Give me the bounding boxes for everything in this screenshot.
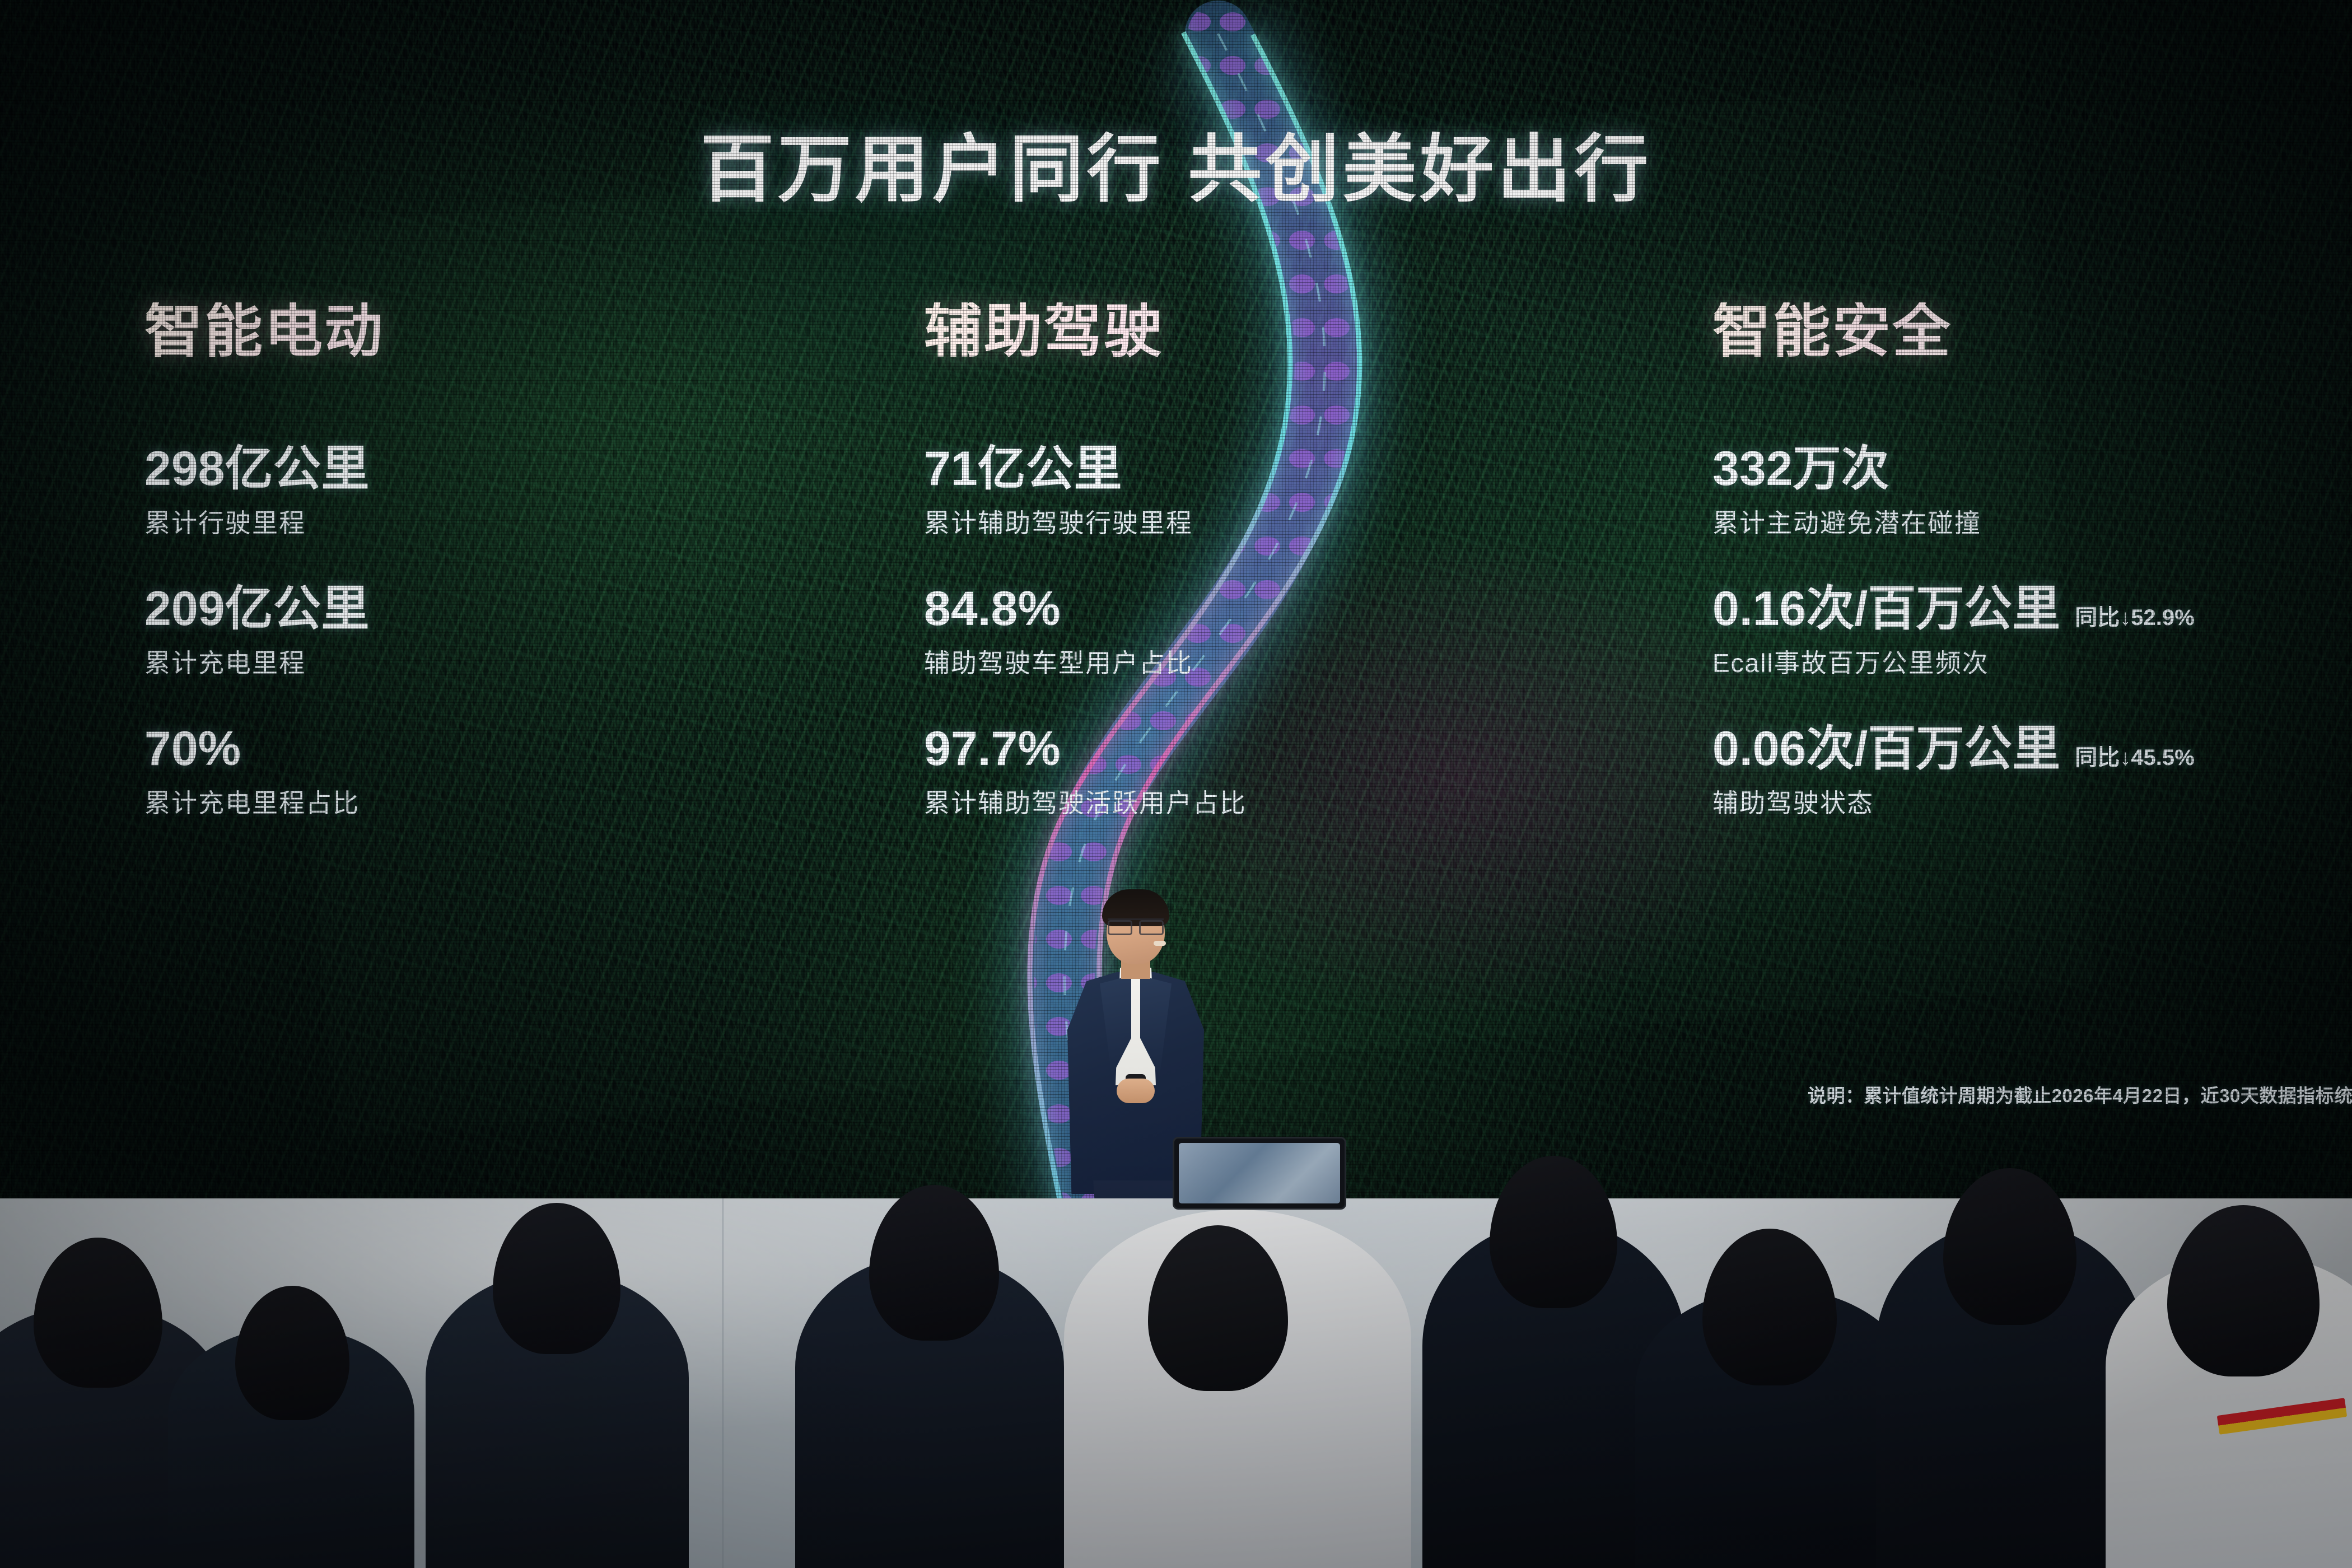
slide-footnote: 说明：累计值统计周期为截止2026年4月22日，近30天数据指标统计: [1808, 1081, 2352, 1108]
stat-value: 0.16次/百万公里: [1712, 584, 2060, 634]
column-header: 辅助驾驶: [924, 302, 1652, 361]
stat-delta: 同比↓52.9%: [2075, 599, 2194, 632]
stat-label: 辅助驾驶车型用户占比: [924, 643, 1652, 680]
stat-delta: 同比↓45.5%: [2075, 739, 2194, 772]
phone-screen: [1179, 1143, 1340, 1203]
audience-foreground: [0, 1154, 2352, 1568]
stat-label: 辅助驾驶状态: [1712, 783, 2352, 820]
column-header: 智能安全: [1712, 302, 2352, 361]
stat-value: 298亿公里: [144, 444, 370, 494]
stat-label: 累计辅助驾驶行驶里程: [924, 503, 1652, 540]
audience-head: [869, 1185, 999, 1341]
stat-label: 累计充电里程占比: [144, 783, 861, 820]
stat-value: 0.06次/百万公里: [1712, 724, 2060, 774]
stat-value: 97.7%: [924, 724, 1061, 774]
stat-block: 84.8% 辅助驾驶车型用户占比: [924, 584, 1652, 680]
stat-block: 71亿公里 累计辅助驾驶行驶里程: [924, 444, 1652, 540]
glasses-icon: [1108, 918, 1164, 931]
stat-label: 累计主动避免潜在碰撞: [1712, 503, 2352, 540]
stat-block: 209亿公里 累计充电里程: [144, 584, 861, 680]
stat-value: 70%: [144, 724, 241, 774]
audience-head: [34, 1238, 162, 1388]
stats-column-intelligent-ev: 智能电动 298亿公里 累计行驶里程 209亿公里 累计充电里: [144, 302, 861, 361]
stat-label: Ecall事故百万公里频次: [1712, 643, 2352, 680]
stat-value: 209亿公里: [144, 584, 370, 634]
audience-head: [2167, 1205, 2320, 1376]
stat-block: 0.16次/百万公里 同比↓52.9% Ecall事故百万公里频次: [1712, 584, 2352, 680]
stat-label: 累计辅助驾驶活跃用户占比: [924, 783, 1652, 820]
stat-block: 0.06次/百万公里 同比↓45.5% 辅助驾驶状态: [1712, 724, 2352, 820]
stat-value: 71亿公里: [924, 444, 1122, 494]
presenter-hands: [1117, 1079, 1155, 1103]
stat-block: 70% 累计充电里程占比: [144, 724, 861, 820]
audience-head: [1490, 1156, 1617, 1308]
audience-head: [493, 1203, 620, 1354]
audience-head: [1943, 1168, 2076, 1325]
stats-column-assisted-driving: 辅助驾驶 71亿公里 累计辅助驾驶行驶里程 84.8% 辅助驾: [924, 302, 1652, 361]
stat-label: 累计充电里程: [144, 643, 861, 680]
column-header: 智能电动: [144, 302, 861, 361]
stat-block: 97.7% 累计辅助驾驶活跃用户占比: [924, 724, 1652, 820]
audience-head: [235, 1286, 349, 1420]
headset-microphone-icon: [1154, 941, 1166, 946]
audience-head: [1702, 1229, 1837, 1385]
smartphone-camera: [1173, 1137, 1346, 1210]
stats-column-intelligent-safety: 智能安全 332万次 累计主动避免潜在碰撞 0.16次/百万公里 同比↓52.9…: [1712, 302, 2352, 361]
stat-label: 累计行驶里程: [144, 503, 861, 540]
stat-block: 332万次 累计主动避免潜在碰撞: [1712, 444, 2352, 540]
stage-photo: 百万用户同行 共创美好出行 智能电动 298亿公里 累计行驶里程 2: [0, 0, 2352, 1568]
stat-value: 84.8%: [924, 584, 1061, 634]
stat-value: 332万次: [1712, 444, 1889, 494]
stat-block: 298亿公里 累计行驶里程: [144, 444, 861, 540]
